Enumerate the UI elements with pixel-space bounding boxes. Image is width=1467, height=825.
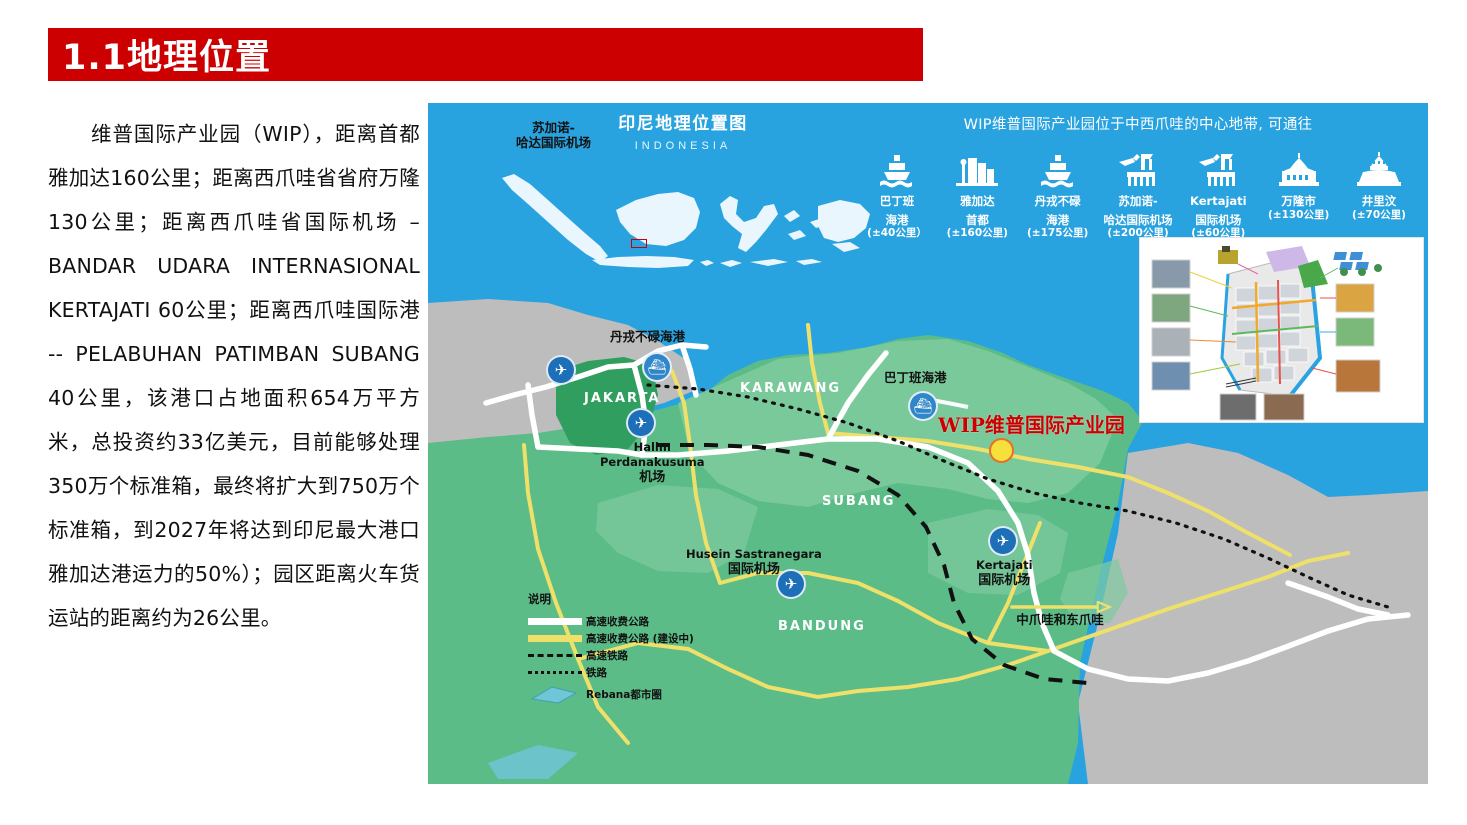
- page-title: 1.1地理位置: [62, 29, 271, 80]
- label-line-1: 丹戎不碌海港: [610, 329, 685, 344]
- legend-row: 高速收费公路: [528, 613, 728, 630]
- poi-kertajati-airport[interactable]: ✈: [988, 526, 1018, 556]
- site-plan-illustration: [1140, 238, 1424, 423]
- label-line-1: Husein Sastranegara: [686, 547, 822, 562]
- connectivity-item-tanjung-priok: 丹戎不碌 海港 (±175公里): [1021, 148, 1095, 240]
- monument-icon: [1342, 148, 1416, 190]
- map-panel: 印尼地理位置图 INDONESIA: [428, 103, 1428, 784]
- label-line-1: BANDUNG: [778, 619, 866, 634]
- legend-text: Rebana都市圈: [586, 687, 662, 702]
- connectivity-label-2: 哈达国际机场: [1101, 214, 1175, 228]
- connectivity-label: Kertajati: [1181, 195, 1255, 209]
- legend-row: 铁路: [528, 664, 728, 681]
- legend-key-solid-white-line: [528, 618, 586, 625]
- label-line-1: Kertajati: [976, 558, 1033, 573]
- label-subang: SUBANG: [822, 494, 895, 509]
- label-sukarno-hatta-airport: 苏加诺- 哈达国际机场: [516, 120, 591, 150]
- connectivity-label: 丹戎不碌: [1021, 195, 1095, 209]
- connectivity-item-bandung: 万隆市 (±130公里): [1262, 148, 1336, 222]
- connectivity-label-2: 国际机场: [1181, 214, 1255, 228]
- connectivity-item-kertajati: Kertajati 国际机场 (±60公里): [1181, 148, 1255, 240]
- connectivity-label-2: 海港: [1021, 214, 1095, 228]
- label-line-2: Perdanakusuma: [600, 455, 704, 470]
- label-line-1: 巴丁班海港: [884, 370, 947, 385]
- label-tanjung-priok-port: 丹戎不碌海港: [610, 329, 685, 344]
- label-line-1: 苏加诺-: [516, 120, 591, 135]
- pavilion-icon: [1262, 148, 1336, 190]
- legend-text: 高速收费公路 (建设中): [586, 631, 694, 646]
- connectivity-headline: WIP维普国际产业园位于中西爪哇的中心地带, 可通往: [848, 113, 1428, 134]
- wip-park-label: WIP维普国际产业园: [938, 409, 1125, 438]
- label-line-1: SUBANG: [822, 494, 895, 509]
- connectivity-label-2: 首都: [940, 214, 1014, 228]
- legend-text: 高速收费公路: [586, 614, 649, 629]
- connectivity-item-patimban: 巴丁班 海港 (±40公里）: [860, 148, 934, 240]
- indonesia-archipelago-shape: [488, 160, 878, 280]
- legend-row: 高速收费公路 (建设中): [528, 630, 728, 647]
- connectivity-label-2: 海港: [860, 214, 934, 228]
- ship-port-icon: [860, 148, 934, 190]
- west-java-highlight-box: [631, 239, 647, 248]
- connectivity-distance: (±130公里): [1262, 209, 1336, 222]
- connectivity-distance: (±160公里): [940, 227, 1014, 240]
- label-line-1: JAKARTA: [584, 391, 660, 406]
- connectivity-item-soekarno-hatta: 苏加诺- 哈达国际机场 (±200公里): [1101, 148, 1175, 240]
- label-line-2: 国际机场: [976, 573, 1033, 588]
- poi-sukarno-hatta-airport[interactable]: ✈: [546, 355, 576, 385]
- label-line-1: KARAWANG: [740, 381, 841, 396]
- legend-row: 高速铁路: [528, 647, 728, 664]
- description-column: 维普国际产业园（WIP），距离首都雅加达160公里；距离西爪哇省省府万隆130公…: [48, 112, 420, 752]
- legend-row: Rebana都市圈: [528, 681, 728, 707]
- wip-location-marker[interactable]: [989, 438, 1014, 463]
- poi-husein-airport[interactable]: ✈: [776, 569, 806, 599]
- connectivity-label: 巴丁班: [860, 195, 934, 209]
- city-skyline-icon: [940, 148, 1014, 190]
- legend-key-teal-polygon: [528, 683, 586, 705]
- connectivity-header: WIP维普国际产业园位于中西爪哇的中心地带, 可通往 巴丁班 海港 (±40公里…: [848, 113, 1428, 240]
- wip-site-plan-inset: [1139, 237, 1424, 423]
- connectivity-label: 万隆市: [1262, 195, 1336, 209]
- legend-title: 说明: [528, 591, 728, 607]
- map-legend: 说明 高速收费公路 高速收费公路 (建设中) 高速铁路 铁路 R: [528, 591, 728, 707]
- connectivity-item-jakarta: 雅加达 首都 (±160公里): [940, 148, 1014, 240]
- connectivity-label: 井里汶: [1342, 195, 1416, 209]
- connectivity-distance: (±40公里）: [860, 227, 934, 240]
- connectivity-label: 雅加达: [940, 195, 1014, 209]
- label-jakarta: JAKARTA: [584, 391, 660, 406]
- airport-tower-icon: [1101, 148, 1175, 190]
- legend-key-dashed-black-line: [528, 654, 586, 657]
- label-line-1: Halim: [600, 440, 704, 455]
- label-line-3: 机场: [600, 470, 704, 485]
- poi-tanjung-priok-port[interactable]: ⛴: [642, 352, 672, 382]
- legend-key-solid-yellow-line: [528, 635, 586, 642]
- connectivity-distance: (±175公里): [1021, 227, 1095, 240]
- connectivity-distance: (±70公里): [1342, 209, 1416, 222]
- label-bandung: BANDUNG: [778, 619, 866, 634]
- slide-root: 1.1地理位置 维普国际产业园（WIP），距离首都雅加达160公里；距离西爪哇省…: [0, 0, 1467, 825]
- label-halim-airport: Halim Perdanakusuma 机场: [600, 440, 704, 485]
- airport-tower-icon: [1181, 148, 1255, 190]
- poi-halim-airport[interactable]: ✈: [626, 408, 656, 438]
- label-karawang: KARAWANG: [740, 381, 841, 396]
- label-line-2: 哈达国际机场: [516, 135, 591, 150]
- connectivity-label: 苏加诺-: [1101, 195, 1175, 209]
- corridor-label: 中爪哇和东爪哇: [1000, 609, 1120, 628]
- description-paragraph: 维普国际产业园（WIP），距离首都雅加达160公里；距离西爪哇省省府万隆130公…: [48, 112, 420, 640]
- legend-text: 高速铁路: [586, 648, 628, 663]
- poi-patimban-port[interactable]: ⛴: [908, 391, 938, 421]
- label-patimban-port: 巴丁班海港: [884, 370, 947, 385]
- connectivity-icon-row: 巴丁班 海港 (±40公里）: [848, 148, 1428, 240]
- legend-key-dotted-black-line: [528, 671, 586, 674]
- legend-text: 铁路: [586, 665, 607, 680]
- label-kertajati-airport: Kertajati 国际机场: [976, 558, 1033, 588]
- section-title-bar: 1.1地理位置: [48, 28, 923, 81]
- ship-port-icon: [1021, 148, 1095, 190]
- connectivity-item-cirebon: 井里汶 (±70公里): [1342, 148, 1416, 222]
